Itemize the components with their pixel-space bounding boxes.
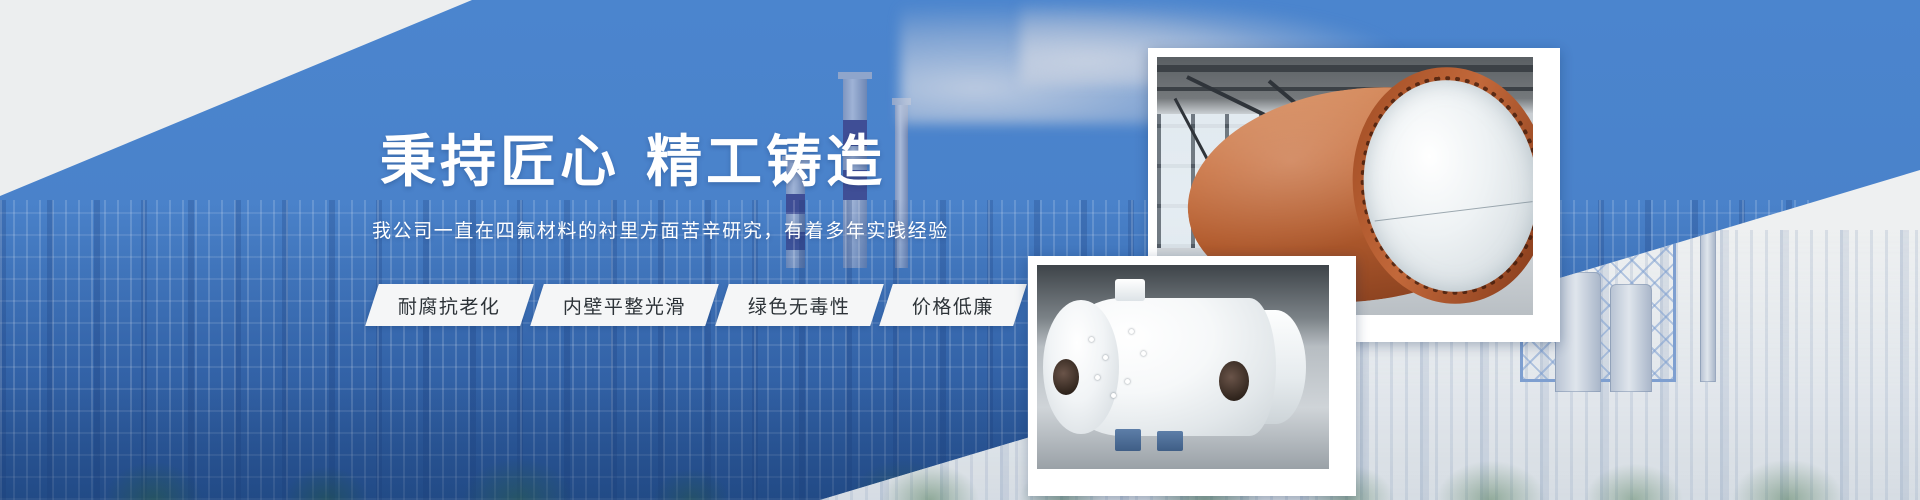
headline-part-2: 精工铸造 [646, 130, 886, 193]
stack-icon [1700, 230, 1716, 382]
tank-stud [1141, 351, 1146, 356]
feature-tag[interactable]: 内壁平整光滑 [530, 284, 719, 326]
tank-support-saddle [1157, 431, 1183, 451]
feature-tag[interactable]: 价格低廉 [879, 284, 1027, 326]
feature-tag-label: 绿色无毒性 [748, 292, 851, 319]
silo-icon [1555, 272, 1601, 392]
white-storage-tank-photo[interactable] [1028, 256, 1356, 496]
tank-stud [1089, 337, 1094, 342]
feature-tag-label: 价格低廉 [912, 292, 994, 319]
hero-banner: 秉持匠心精工铸造 我公司一直在四氟材料的衬里方面苦辛研究，有着多年实践经验 耐腐… [0, 0, 1920, 500]
tank-top-vent [1115, 279, 1145, 301]
page-subtitle: 我公司一直在四氟材料的衬里方面苦辛研究，有着多年实践经验 [372, 222, 949, 241]
tank-stud [1095, 375, 1100, 380]
feature-tag-list: 耐腐抗老化 内壁平整光滑 绿色无毒性 价格低廉 [372, 284, 1020, 326]
tank-stud [1125, 379, 1130, 384]
tank-support-saddle [1115, 429, 1141, 451]
photo-image [1037, 265, 1329, 469]
tank-nozzle [1053, 359, 1079, 395]
feature-tag-label: 内壁平整光滑 [563, 292, 686, 319]
feature-tag-label: 耐腐抗老化 [398, 292, 501, 319]
headline-part-1: 秉持匠心 [380, 130, 620, 193]
tank-stud [1111, 393, 1116, 398]
roof-beam [1157, 65, 1533, 72]
feature-tag[interactable]: 耐腐抗老化 [365, 284, 533, 326]
tank-stud [1129, 329, 1134, 334]
tank-nozzle [1219, 361, 1249, 401]
tank-stud [1103, 355, 1108, 360]
page-title: 秉持匠心精工铸造 [380, 134, 886, 190]
feature-tag[interactable]: 绿色无毒性 [715, 284, 883, 326]
lining-seam [1374, 201, 1532, 221]
silo-icon [1610, 284, 1652, 392]
